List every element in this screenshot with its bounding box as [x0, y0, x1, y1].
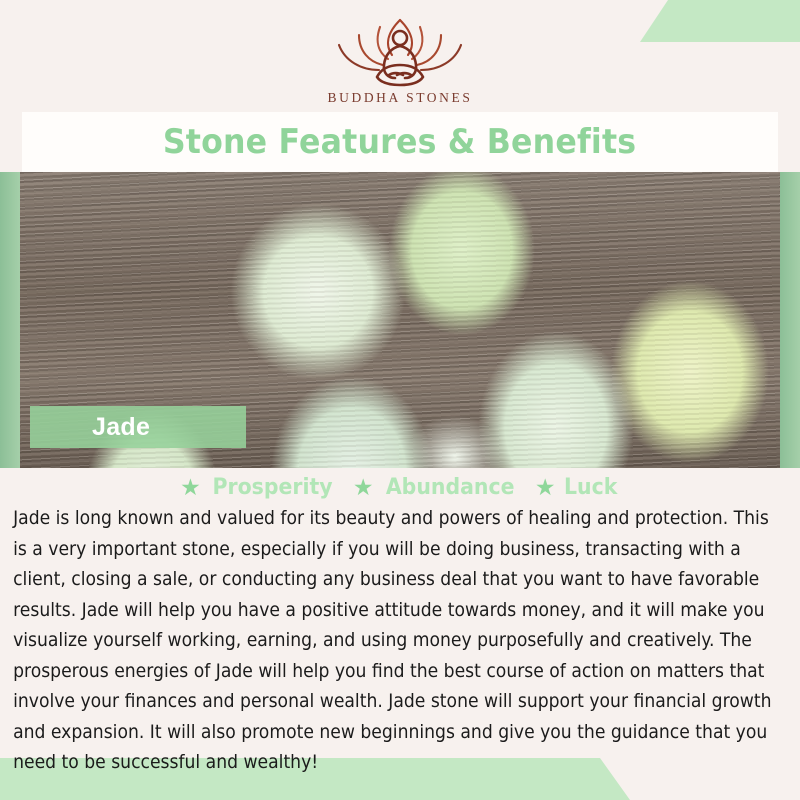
star-icon: ★	[180, 476, 201, 499]
benefit-item-prosperity: ★ Prosperity	[180, 475, 337, 500]
title-panel: Stone Features & Benefits	[22, 112, 778, 172]
brand-name: BUDDHA STONES	[328, 90, 473, 106]
stone-photo: Jade	[0, 172, 800, 468]
page-title: Stone Features & Benefits	[163, 122, 636, 162]
star-icon: ★	[535, 476, 556, 499]
benefit-label: Prosperity	[212, 475, 332, 500]
brand-logo: BUDDHA STONES	[325, 15, 475, 106]
decor-side-bar-left	[0, 172, 20, 468]
star-icon: ★	[353, 476, 374, 499]
decor-side-bar-right	[780, 172, 800, 468]
stone-name-banner: Jade	[30, 406, 246, 448]
benefit-item-luck: ★ Luck	[535, 475, 620, 500]
benefit-item-abundance: ★ Abundance	[353, 475, 519, 500]
stone-name-label: Jade	[30, 413, 150, 442]
brand-header: BUDDHA STONES	[0, 0, 800, 112]
lotus-meditation-icon	[325, 15, 475, 87]
benefit-label: Luck	[564, 475, 617, 500]
stone-description: Jade is long known and valued for its be…	[0, 502, 800, 779]
benefit-label: Abundance	[385, 475, 514, 500]
benefits-row: ★ Prosperity ★ Abundance ★ Luck	[0, 468, 800, 502]
